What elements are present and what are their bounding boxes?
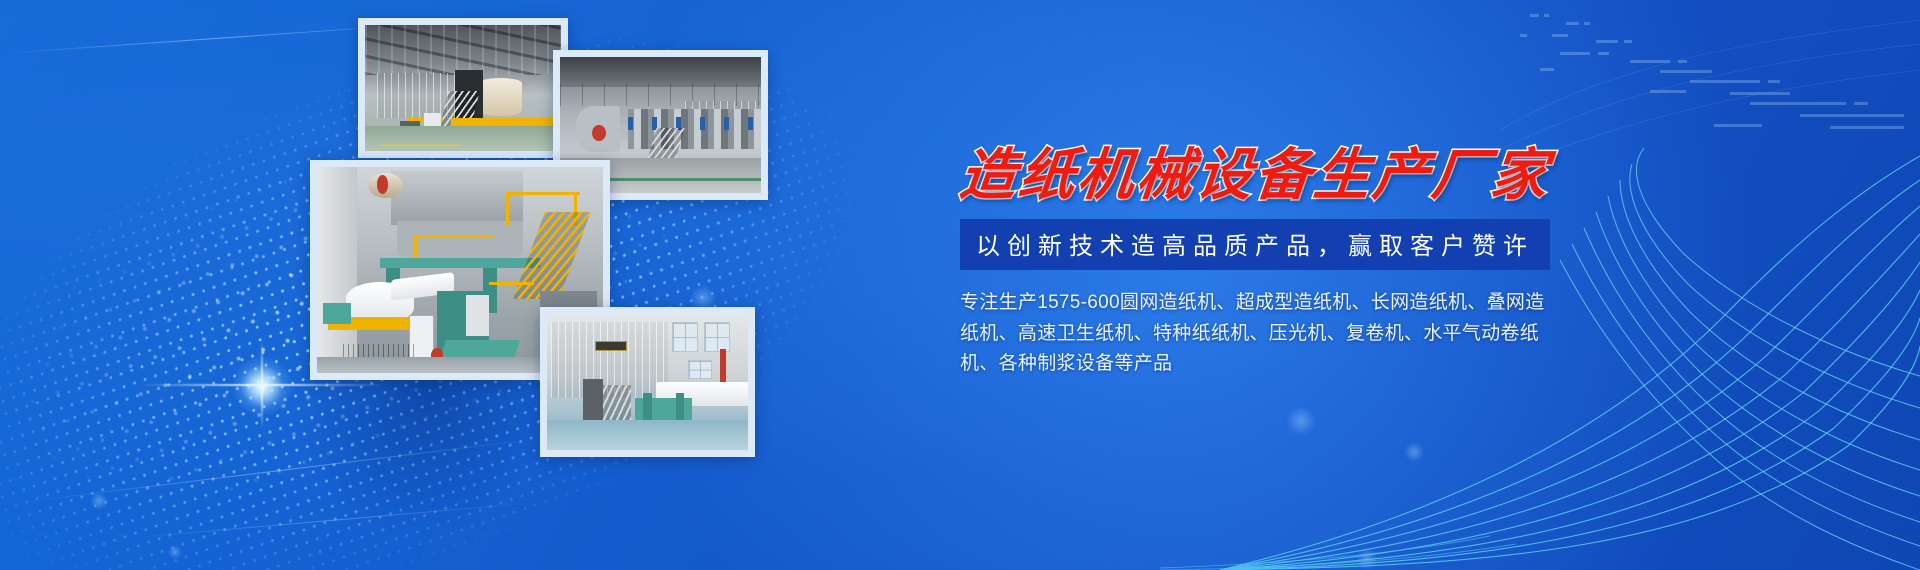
photo-paper-machine-workshop-4 — [540, 307, 755, 457]
bokeh-dot — [90, 492, 108, 510]
bokeh-dot — [1356, 548, 1378, 570]
banner-headline: 造纸机械设备生产厂家 — [957, 146, 1583, 205]
banner-description: 专注生产1575-600圆网造纸机、超成型造纸机、长网造纸机、叠网造纸机、高速卫… — [960, 288, 1560, 380]
photo-paper-machine-workshop-1 — [358, 18, 568, 158]
bokeh-dot — [168, 545, 182, 559]
banner-text-block: 造纸机械设备生产厂家 以创新技术造高品质产品，赢取客户赞许 专注生产1575-6… — [960, 146, 1580, 399]
bokeh-dot — [1404, 442, 1424, 462]
hero-banner: 造纸机械设备生产厂家 以创新技术造高品质产品，赢取客户赞许 专注生产1575-6… — [0, 0, 1920, 570]
bokeh-dot — [1286, 406, 1316, 436]
lens-flare-cross-icon — [255, 378, 269, 392]
banner-subtitle: 以创新技术造高品质产品，赢取客户赞许 — [976, 233, 1534, 260]
banner-subtitle-bar: 以创新技术造高品质产品，赢取客户赞许 — [960, 219, 1550, 270]
